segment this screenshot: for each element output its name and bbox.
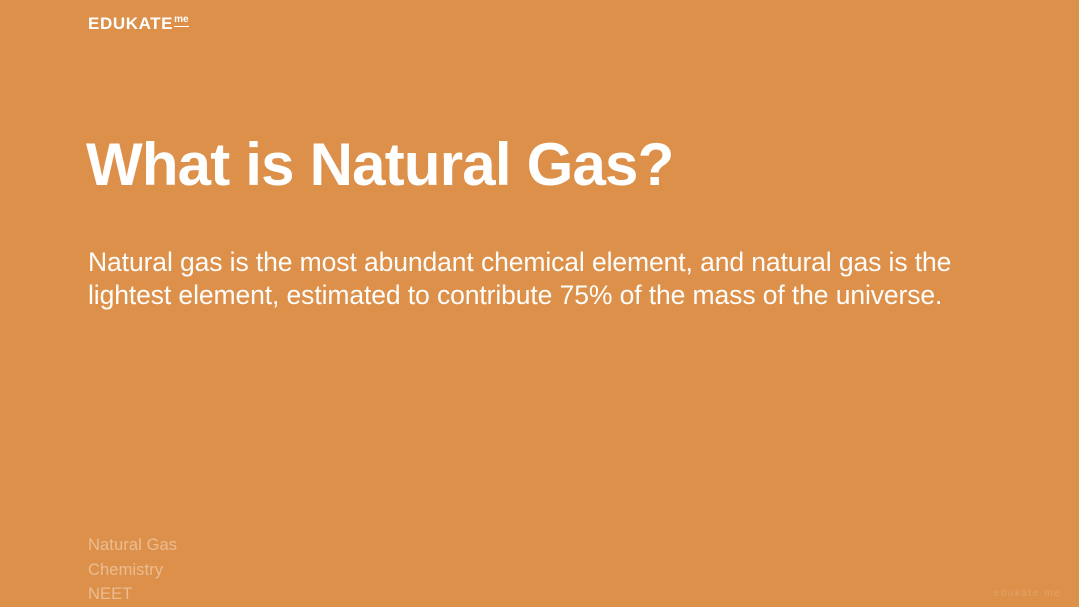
brand-wordmark: EDUKATE — [88, 15, 173, 32]
brand-superscript: me — [174, 15, 188, 27]
list-item[interactable]: NEET — [88, 582, 177, 607]
corner-watermark: edukate.me — [994, 588, 1061, 599]
slide-body-text: Natural gas is the most abundant chemica… — [88, 246, 983, 311]
tag-list: Natural Gas Chemistry NEET — [88, 533, 177, 607]
brand-logo[interactable]: EDUKATE me — [88, 15, 189, 32]
list-item[interactable]: Chemistry — [88, 558, 177, 583]
list-item[interactable]: Natural Gas — [88, 533, 177, 558]
slide-canvas: EDUKATE me What is Natural Gas? Natural … — [0, 0, 1079, 607]
slide-title: What is Natural Gas? — [86, 133, 966, 197]
